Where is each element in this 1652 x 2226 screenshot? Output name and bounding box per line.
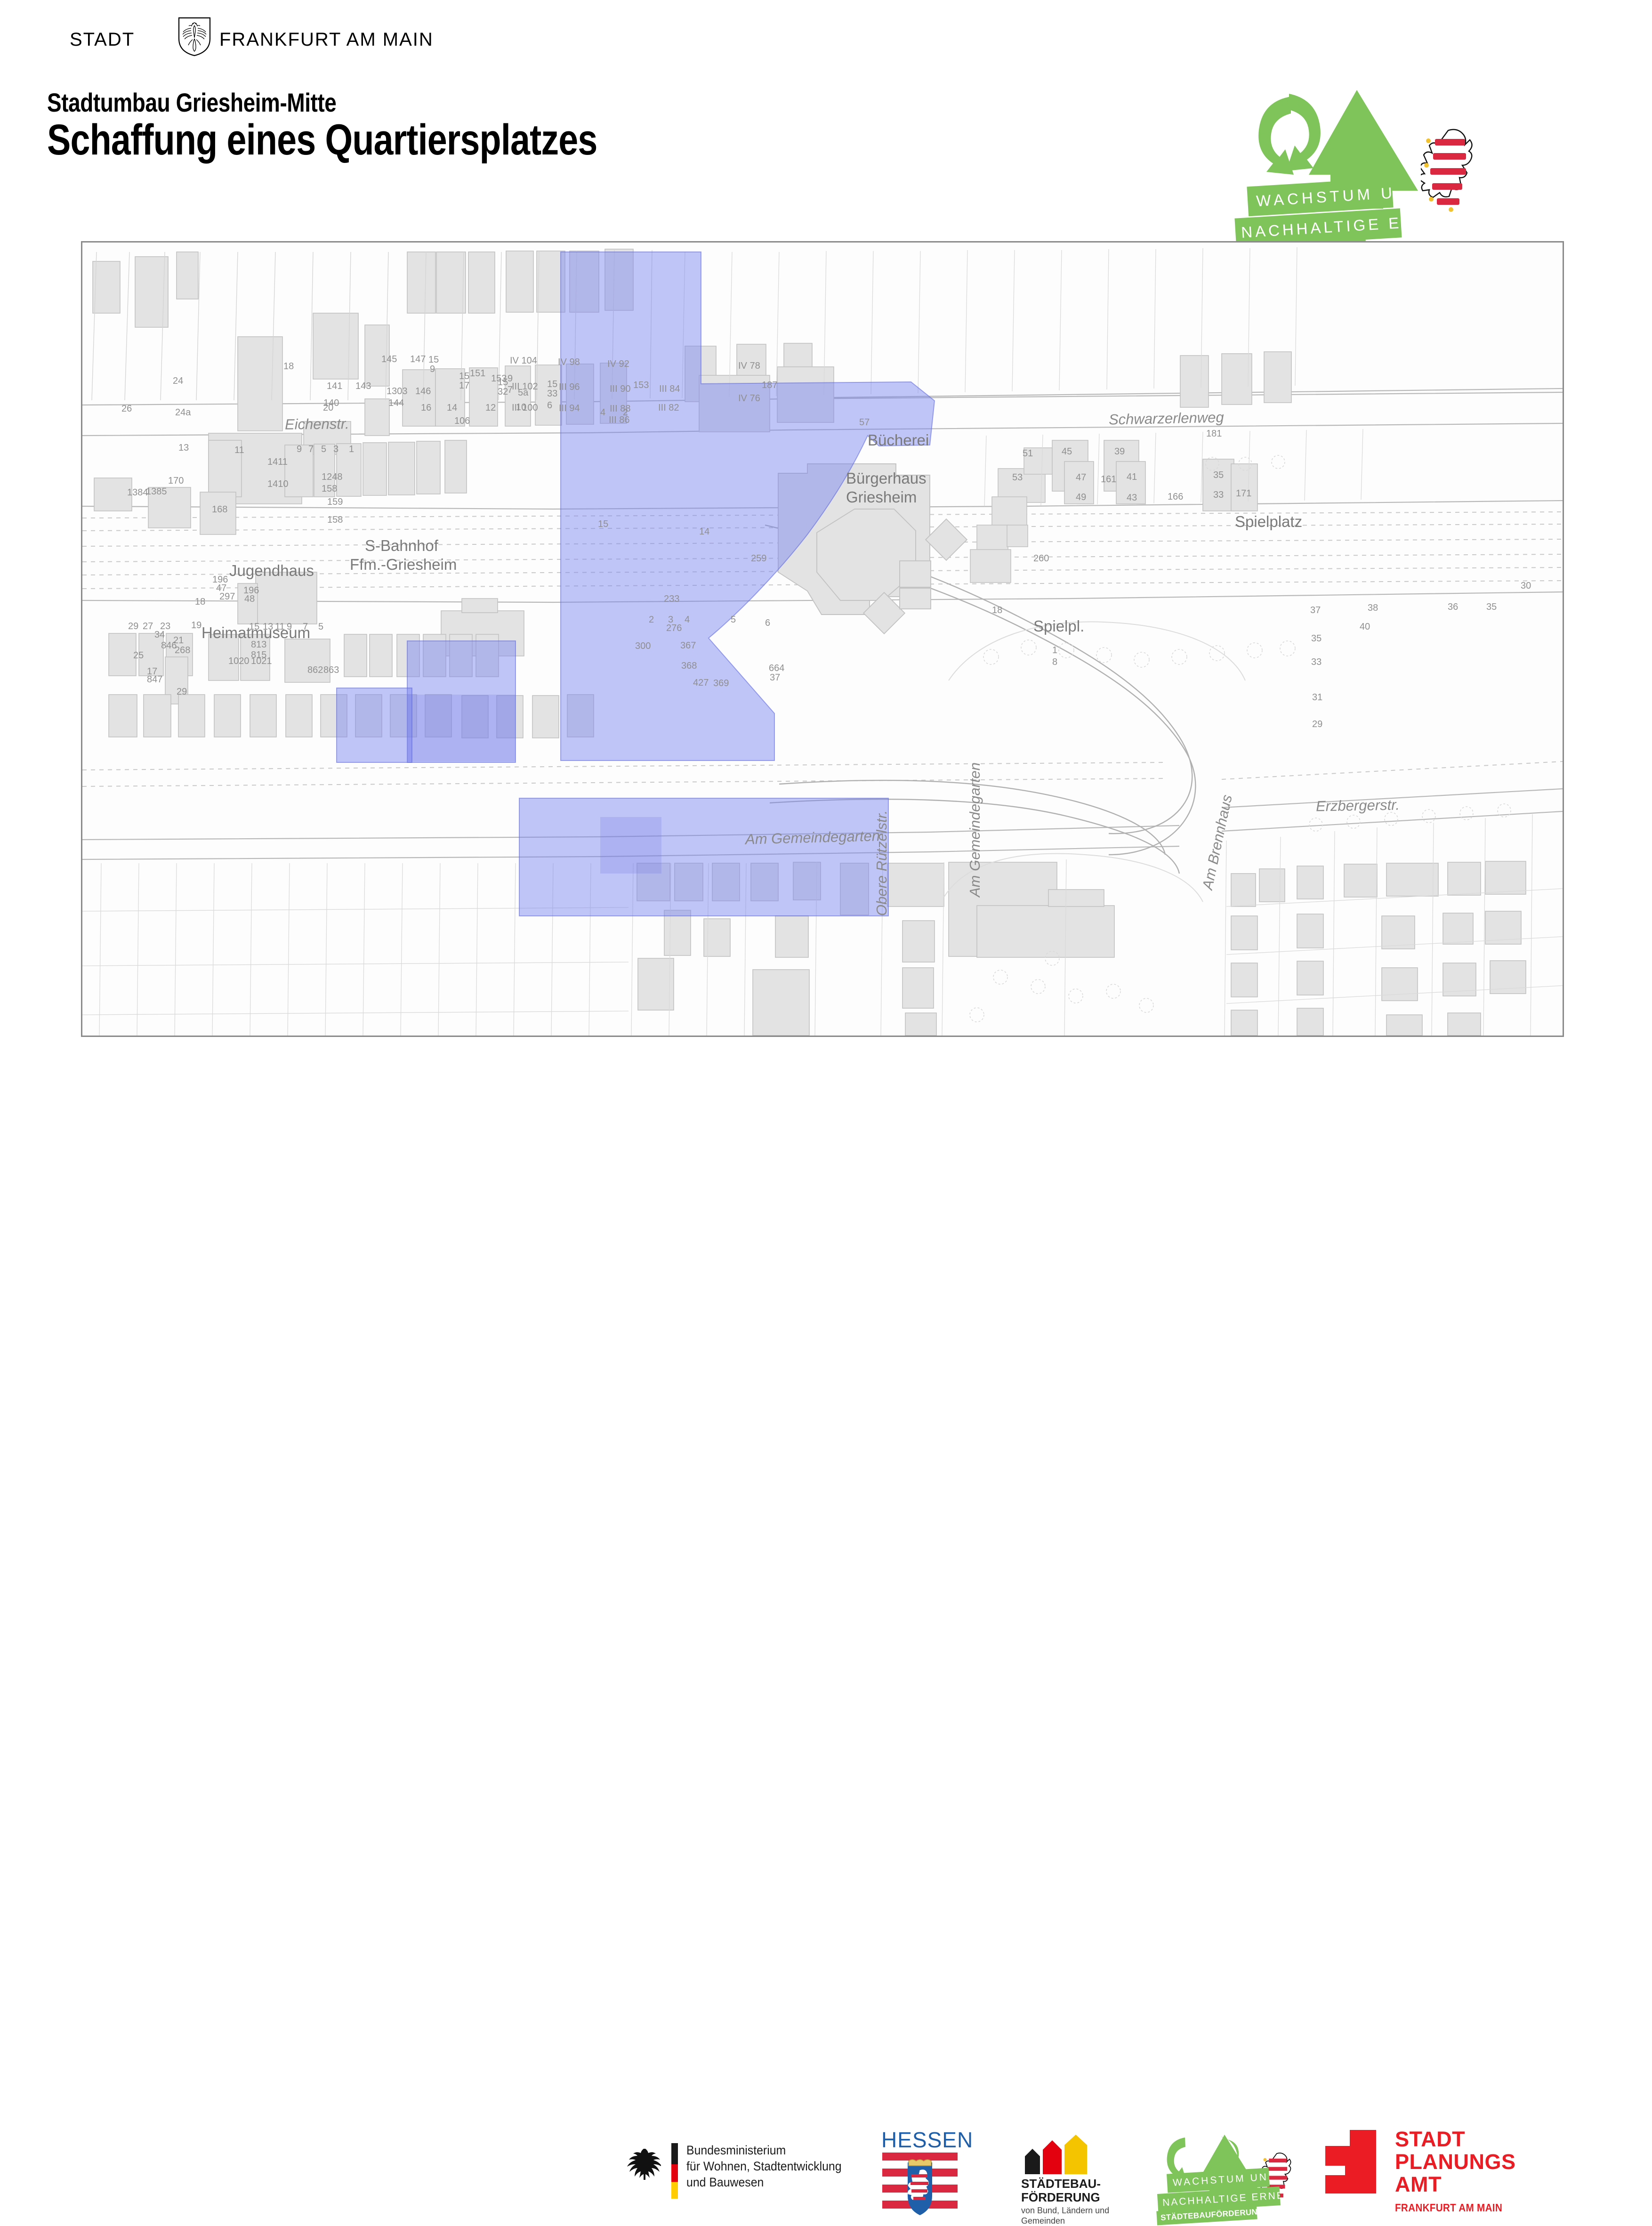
map-parcel-number: 14 [447, 403, 457, 413]
map-parcel-number: 13 [263, 622, 273, 632]
city-logo-word-stadt: STADT [70, 29, 135, 50]
map-parcel-number: 260 [1033, 553, 1049, 564]
city-of-frankfurt-logo: STADT FRANKFURT AM MAIN [70, 24, 371, 54]
bundesministerium-logo: Bundesministerium für Wohnen, Stadtentwi… [626, 2140, 847, 2199]
stadtplanungsamt-line3: AMT [1395, 2173, 1516, 2196]
map-parcel-number: 171 [1236, 488, 1251, 499]
map-parcel-number: 29 [128, 621, 138, 632]
map-parcel-number: 151 [470, 368, 485, 379]
map-parcel-number: 37 [1310, 605, 1321, 616]
map-parcel-number: 51 [1023, 448, 1033, 459]
map-parcel-number: 8 [1052, 657, 1057, 668]
bundesministerium-text: Bundesministerium für Wohnen, Stadtentwi… [686, 2142, 842, 2190]
map-parcel-number: 15 [249, 622, 259, 632]
map-parcel-number: 259 [751, 553, 766, 564]
map-parcel-number: 276 [666, 623, 682, 634]
map-parcel-number: III 82 [658, 403, 679, 413]
map-parcel-number: 168 [212, 504, 227, 515]
staedtebau-line1: STÄDTEBAU- [1021, 2177, 1101, 2191]
map-parcel-number: 40 [1360, 622, 1370, 632]
stadtplanungsamt-text: STADT PLANUNGS AMT [1395, 2128, 1516, 2196]
poi-label-spielpl: Spielpl. [1033, 617, 1084, 635]
map-parcel-number: IV 92 [607, 359, 629, 370]
poi-label-jugendhaus: Jugendhaus [229, 562, 314, 580]
poi-label-spielplatz: Spielplatz [1235, 513, 1302, 531]
map-parcel-number: 847 [147, 674, 162, 685]
map-parcel-number: 24 [173, 376, 183, 387]
map-parcel-number: 34 [154, 630, 165, 640]
german-flag-bar-icon [671, 2143, 678, 2199]
map-parcel-number: 57 [859, 417, 870, 428]
map-parcel-number: 141 [327, 381, 342, 392]
map-parcel-number: 27 [143, 621, 153, 632]
map-parcel-number: IV 98 [558, 357, 580, 368]
bundesministerium-line2: für Wohnen, Stadtentwicklung [686, 2158, 842, 2174]
map-parcel-number: 33 [547, 389, 557, 399]
street-label-eichenstr: Eichenstr. [285, 415, 349, 433]
map-parcel-number: 9 [287, 622, 292, 632]
map-parcel-number: 140 [323, 398, 339, 409]
page-subtitle: Stadtumbau Griesheim-Mitte [47, 87, 336, 118]
map-parcel-number: 43 [1127, 493, 1137, 503]
map-parcel-number: 181 [1206, 429, 1222, 439]
german-federal-eagle-icon [626, 2147, 661, 2183]
map-parcel-number: 29 [177, 687, 187, 697]
map-parcel-number: IV 78 [738, 361, 760, 372]
map-parcel-number: 33 [1213, 490, 1224, 501]
map-parcel-number: IV 104 [510, 356, 537, 366]
map-parcel-number: 3 [333, 444, 338, 455]
stadtplanungsamt-subtext: FRANKFURT AM MAIN [1395, 2202, 1502, 2214]
map-parcel-number: 14 [699, 526, 709, 537]
map-parcel-number: 49 [1076, 492, 1086, 503]
stadtplanungsamt-mark-icon [1325, 2130, 1376, 2194]
page-title: Schaffung eines Quartiersplatzes [47, 115, 597, 165]
map-parcel-number: 161 [1101, 474, 1116, 485]
map-parcel-number: III 94 [559, 403, 580, 414]
staedtebau-subtext: von Bund, Ländern und Gemeinden [1021, 2205, 1109, 2226]
map-parcel-number: 9 [297, 444, 302, 455]
map-parcel-number: 53 [1012, 472, 1023, 483]
map-parcel-number: 297 [219, 591, 235, 602]
street-label-schwarzerlenweg: Schwarzerlenweg [1109, 409, 1224, 428]
cadastral-map[interactable]: Eichenstr. Schwarzerlenweg Erzbergerstr.… [81, 241, 1564, 1037]
map-parcel-number: 4 [685, 615, 690, 625]
map-parcel-number: 41 [1127, 472, 1137, 483]
staedtebaufoerderung-logo: STÄDTEBAU- FÖRDERUNG von Bund, Ländern u… [1019, 2135, 1142, 2212]
map-parcel-number: 1248 [322, 472, 343, 483]
map-parcel-number: 159 [327, 497, 343, 508]
map-parcel-number: 26 [121, 404, 132, 414]
staedtebau-line2: FÖRDERUNG [1021, 2191, 1101, 2204]
map-parcel-number: 815 [251, 650, 266, 661]
map-parcel-number: III 86 [609, 415, 629, 426]
map-parcel-number: 4 [600, 407, 605, 418]
map-parcel-number: 6 [547, 400, 552, 411]
map-parcel-number: 48 [244, 594, 255, 605]
bundesministerium-line1: Bundesministerium [686, 2142, 842, 2158]
map-parcel-number: 1384 [127, 487, 148, 498]
staedtebau-text: STÄDTEBAU- FÖRDERUNG [1021, 2177, 1101, 2204]
funding-logo-bar: Bundesministerium für Wohnen, Stadtentwi… [0, 1062, 1652, 1168]
map-parcel-number: 13 [178, 443, 189, 453]
map-parcel-number: IV 76 [738, 393, 760, 404]
map-parcel-number: 268 [175, 645, 190, 656]
map-parcel-number: 166 [1168, 492, 1183, 502]
map-parcel-number: 187 [762, 380, 777, 391]
frankfurt-eagle-crest-icon [177, 16, 212, 57]
map-parcel-number: 39 [1114, 446, 1125, 457]
map-parcel-number: 1020 [228, 656, 250, 667]
map-parcel-number: 9 [430, 364, 435, 375]
map-parcel-number: 12 [485, 403, 496, 413]
stadtplanungsamt-line2: PLANUNGS [1395, 2151, 1516, 2173]
map-parcel-number: 1410 [267, 479, 289, 490]
map-parcel-number: 31 [1312, 692, 1322, 703]
map-parcel-number: 144 [388, 398, 404, 409]
map-parcel-number: 33 [1311, 657, 1322, 668]
street-label-am-gemeindegarten: Am Gemeindegarten [745, 827, 880, 848]
street-label-am-gemeindegarten-vertical: Am Gemeindegarten [967, 762, 983, 897]
poi-label-s-bahnhof: S-Bahnhof [365, 537, 438, 555]
map-parcel-number: 32 [498, 387, 508, 397]
map-parcel-number: 35 [1213, 470, 1224, 481]
map-parcel-number: 5 [321, 444, 326, 455]
map-parcel-number: 427 [693, 678, 709, 688]
street-label-obere-ruetzelstr: Obere Rützelstr. [873, 810, 890, 916]
street-label-erzbergerstr: Erzbergerstr. [1316, 796, 1400, 815]
map-parcel-number: 16 [421, 403, 431, 413]
map-parcel-number: 38 [1368, 603, 1378, 614]
map-parcel-number: III 96 [559, 382, 580, 393]
map-parcel-number: 1 [349, 444, 354, 455]
map-parcel-number: 863 [323, 665, 339, 676]
map-parcel-number: 146 [415, 386, 431, 397]
map-parcel-number: 25 [133, 650, 144, 661]
map-parcel-number: 35 [1311, 633, 1322, 644]
map-parcel-number: 2 [649, 615, 654, 625]
three-houses-icon [1022, 2135, 1092, 2174]
map-parcel-number: 145 [381, 354, 397, 365]
bundesministerium-line3: und Bauwesen [686, 2174, 842, 2190]
map-parcel-number: 368 [681, 661, 697, 672]
map-parcel-number: III 90 [610, 384, 630, 395]
map-parcel-number: 158 [322, 484, 337, 494]
map-parcel-number: 862 [307, 665, 323, 676]
map-parcel-number: 143 [355, 381, 371, 392]
map-parcel-number: 30 [1521, 581, 1531, 591]
map-parcel-number: 15 [598, 519, 608, 530]
map-parcel-number: 233 [664, 594, 679, 605]
map-canvas[interactable]: Eichenstr. Schwarzerlenweg Erzbergerstr.… [82, 243, 1563, 1036]
poi-label-buecherei: Bücherei [868, 431, 929, 449]
map-parcel-number: 36 [1448, 602, 1458, 613]
map-parcel-number: 1 [1052, 645, 1057, 656]
map-parcel-number: III 88 [610, 404, 630, 414]
map-parcel-number: 1385 [146, 486, 167, 497]
map-parcel-number: 45 [1062, 446, 1072, 457]
map-parcel-number: 19 [191, 620, 201, 631]
stadtplanungsamt-line1: STADT [1395, 2128, 1516, 2151]
map-parcel-number: 300 [635, 641, 651, 652]
poi-label-buergerhaus: Bürgerhaus [846, 469, 927, 487]
map-parcel-number: 5 [318, 622, 323, 632]
poi-label-ffm-griesheim: Ffm.-Griesheim [350, 556, 457, 574]
hessen-coat-of-arms-icon [882, 2153, 958, 2218]
staedtebau-sub1: von Bund, Ländern und [1021, 2205, 1109, 2216]
page-header: STADT FRANKFURT AM MAIN Stadtumbau Gries… [0, 0, 1652, 235]
map-parcel-number: 47 [1076, 472, 1086, 483]
map-parcel-number: 18 [283, 361, 294, 372]
map-parcel-number: 367 [680, 640, 696, 651]
map-parcel-number: 106 [454, 416, 470, 427]
poi-label-griesheim: Griesheim [846, 488, 917, 506]
hessen-lion-icon [1421, 124, 1477, 213]
stadtplanungsamt-logo: STADT PLANUNGS AMT FRANKFURT AM MAIN [1325, 2130, 1570, 2219]
wachstum-logo-small: WACHSTUM UND NACHHALTIGE ERNEUERUNG STÄD… [1156, 2131, 1325, 2218]
map-parcel-number: 7 [308, 444, 314, 455]
map-parcel-number: 29 [1312, 719, 1322, 730]
map-parcel-number: III 102 [512, 381, 538, 392]
map-parcel-number: 813 [251, 639, 266, 650]
staedtebau-sub2: Gemeinden [1021, 2216, 1109, 2226]
map-parcel-number: 6 [765, 618, 770, 629]
city-logo-word-frankfurt: FRANKFURT AM MAIN [219, 29, 434, 50]
map-parcel-number: 5 [731, 615, 736, 625]
map-parcel-number: 24a [175, 407, 191, 418]
map-parcel-number: 7 [303, 622, 308, 632]
map-parcel-number: 369 [713, 678, 729, 689]
map-parcel-number: 11 [275, 622, 285, 632]
map-parcel-number: 37 [770, 672, 780, 683]
hessen-logo: HESSEN [876, 2127, 960, 2221]
hessen-wordmark: HESSEN [881, 2127, 973, 2153]
map-parcel-number: 35 [1486, 602, 1497, 613]
map-parcel-number: 147 [410, 354, 426, 365]
map-parcel-number: 1303 [387, 386, 408, 397]
map-parcel-number: III 100 [512, 403, 538, 413]
map-parcel-number: 18 [992, 605, 1002, 616]
map-parcel-number: 158 [327, 515, 343, 526]
map-parcel-number: 18 [195, 597, 205, 607]
map-parcel-number: 11 [234, 445, 244, 456]
map-parcel-number: 170 [168, 476, 184, 486]
map-parcel-number: 17 [459, 380, 469, 391]
map-parcel-number: 153 [633, 380, 649, 391]
map-parcel-number: 1411 [267, 457, 288, 468]
map-parcel-number: III 84 [659, 384, 680, 395]
